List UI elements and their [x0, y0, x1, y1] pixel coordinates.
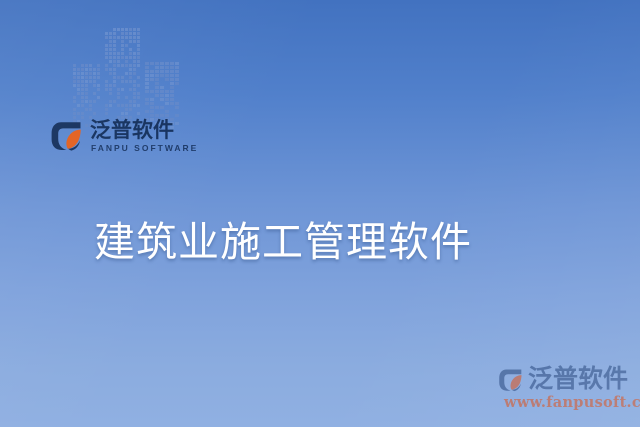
- skyline-window: [109, 52, 112, 55]
- skyline-window: [109, 88, 112, 91]
- skyline-window: [105, 68, 108, 71]
- skyline-window: [170, 90, 174, 93]
- skyline-window: [105, 80, 108, 83]
- skyline-window: [73, 96, 76, 99]
- skyline-window: [97, 108, 100, 111]
- skyline-window: [113, 104, 116, 107]
- skyline-window: [175, 82, 179, 85]
- brand-wordmark-en: FANPU SOFTWARE: [91, 143, 198, 153]
- skyline-window: [175, 90, 179, 93]
- skyline-window: [133, 36, 136, 39]
- skyline-window: [113, 92, 116, 95]
- skyline-window: [129, 40, 132, 43]
- skyline-window: [89, 92, 92, 95]
- skyline-window: [155, 94, 159, 97]
- skyline-window: [89, 68, 92, 71]
- skyline-window: [73, 76, 76, 79]
- skyline-window: [133, 40, 136, 43]
- skyline-window: [105, 56, 108, 59]
- skyline-window: [117, 72, 120, 75]
- skyline-window: [137, 108, 140, 111]
- skyline-window: [105, 72, 108, 75]
- skyline-window: [117, 60, 120, 63]
- dotted-building-skyline: [57, 26, 183, 120]
- skyline-window: [150, 106, 154, 109]
- skyline-window: [133, 28, 136, 31]
- skyline-window: [81, 72, 84, 75]
- skyline-window: [97, 80, 100, 83]
- skyline-window: [73, 72, 76, 75]
- skyline-window: [117, 56, 120, 59]
- skyline-window: [133, 96, 136, 99]
- skyline-window: [117, 36, 120, 39]
- skyline-window: [155, 74, 159, 77]
- skyline-window: [165, 102, 169, 105]
- skyline-window: [129, 56, 132, 59]
- skyline-window: [117, 40, 120, 43]
- skyline-window: [165, 66, 169, 69]
- skyline-window: [113, 88, 116, 91]
- skyline-window: [73, 84, 76, 87]
- skyline-window: [117, 32, 120, 35]
- skyline-window: [125, 84, 128, 87]
- skyline-window: [160, 82, 164, 85]
- skyline-window: [73, 64, 76, 67]
- skyline-window: [137, 96, 140, 99]
- skyline-window: [133, 68, 136, 71]
- skyline-window: [93, 84, 96, 87]
- skyline-window: [121, 112, 124, 115]
- skyline-window: [109, 112, 112, 115]
- skyline-window: [165, 98, 169, 101]
- skyline-window: [170, 102, 174, 105]
- skyline-window: [145, 78, 149, 81]
- skyline-window: [85, 92, 88, 95]
- skyline-window: [133, 104, 136, 107]
- skyline-window: [113, 28, 116, 31]
- skyline-window: [105, 96, 108, 99]
- skyline-window: [160, 102, 164, 105]
- skyline-window: [93, 64, 96, 67]
- skyline-window: [133, 84, 136, 87]
- skyline-window: [113, 72, 116, 75]
- skyline-window: [160, 70, 164, 73]
- skyline-window: [117, 112, 120, 115]
- skyline-window: [109, 28, 112, 31]
- skyline-window: [73, 100, 76, 103]
- skyline-window: [125, 88, 128, 91]
- skyline-window: [160, 110, 164, 113]
- skyline-window: [89, 80, 92, 83]
- skyline-window: [125, 56, 128, 59]
- skyline-window: [81, 100, 84, 103]
- skyline-window: [165, 70, 169, 73]
- skyline-right-building: [145, 62, 173, 120]
- skyline-window: [145, 82, 149, 85]
- skyline-window: [77, 100, 80, 103]
- skyline-window: [105, 100, 108, 103]
- skyline-window: [137, 100, 140, 103]
- skyline-window: [81, 88, 84, 91]
- skyline-window: [117, 108, 120, 111]
- skyline-window: [129, 36, 132, 39]
- skyline-window: [109, 104, 112, 107]
- skyline-window: [175, 110, 179, 113]
- skyline-window: [155, 82, 159, 85]
- skyline-window: [125, 36, 128, 39]
- skyline-window: [121, 64, 124, 67]
- skyline-window: [145, 94, 149, 97]
- skyline-window: [145, 86, 149, 89]
- skyline-window: [89, 76, 92, 79]
- skyline-window: [93, 112, 96, 115]
- skyline-window: [109, 32, 112, 35]
- skyline-window: [160, 94, 164, 97]
- skyline-window: [137, 92, 140, 95]
- skyline-window: [137, 60, 140, 63]
- skyline-window: [170, 74, 174, 77]
- skyline-window: [105, 88, 108, 91]
- skyline-window: [85, 96, 88, 99]
- skyline-window: [170, 94, 174, 97]
- skyline-window: [145, 62, 149, 65]
- watermark-wordmark-cn: 泛普软件: [528, 363, 628, 394]
- skyline-window: [77, 84, 80, 87]
- skyline-window: [117, 48, 120, 51]
- skyline-window: [133, 64, 136, 67]
- skyline-window: [85, 112, 88, 115]
- skyline-window: [93, 108, 96, 111]
- skyline-window: [109, 84, 112, 87]
- skyline-window: [125, 104, 128, 107]
- skyline-window: [85, 100, 88, 103]
- skyline-window: [105, 36, 108, 39]
- skyline-window: [117, 104, 120, 107]
- skyline-window: [85, 80, 88, 83]
- skyline-window: [160, 98, 164, 101]
- skyline-window: [150, 70, 154, 73]
- skyline-window: [81, 108, 84, 111]
- skyline-window: [137, 68, 140, 71]
- skyline-window: [125, 100, 128, 103]
- skyline-window: [117, 80, 120, 83]
- skyline-window: [85, 76, 88, 79]
- skyline-window: [109, 80, 112, 83]
- skyline-window: [97, 88, 100, 91]
- skyline-window: [81, 68, 84, 71]
- skyline-window: [125, 32, 128, 35]
- skyline-window: [105, 64, 108, 67]
- fanpu-watermark-mark-icon: [498, 367, 524, 393]
- skyline-window: [85, 84, 88, 87]
- skyline-window: [105, 108, 108, 111]
- skyline-window: [165, 86, 169, 89]
- skyline-window: [89, 108, 92, 111]
- skyline-window: [170, 70, 174, 73]
- skyline-window: [73, 108, 76, 111]
- skyline-window: [117, 64, 120, 67]
- skyline-window: [121, 48, 124, 51]
- skyline-window: [113, 48, 116, 51]
- skyline-window: [105, 40, 108, 43]
- skyline-window: [81, 80, 84, 83]
- skyline-window: [150, 110, 154, 113]
- skyline-window: [165, 74, 169, 77]
- skyline-window: [150, 94, 154, 97]
- skyline-window: [170, 62, 174, 65]
- skyline-window: [137, 64, 140, 67]
- skyline-window: [145, 98, 149, 101]
- skyline-window: [129, 104, 132, 107]
- skyline-window: [137, 48, 140, 51]
- skyline-window: [125, 96, 128, 99]
- watermark: 泛普软件 www.fanpusoft.com: [498, 363, 640, 413]
- skyline-window: [77, 64, 80, 67]
- skyline-window: [73, 88, 76, 91]
- skyline-window: [113, 32, 116, 35]
- skyline-window: [137, 76, 140, 79]
- skyline-window: [137, 28, 140, 31]
- skyline-window: [137, 32, 140, 35]
- skyline-window: [97, 84, 100, 87]
- skyline-window: [81, 84, 84, 87]
- skyline-window: [129, 76, 132, 79]
- skyline-window: [129, 80, 132, 83]
- skyline-window: [93, 76, 96, 79]
- skyline-window: [175, 86, 179, 89]
- skyline-window: [113, 68, 116, 71]
- skyline-window: [109, 92, 112, 95]
- skyline-window: [89, 104, 92, 107]
- skyline-window: [89, 84, 92, 87]
- skyline-window: [117, 100, 120, 103]
- skyline-window: [137, 40, 140, 43]
- skyline-window: [93, 100, 96, 103]
- skyline-window: [145, 110, 149, 113]
- skyline-window: [117, 68, 120, 71]
- skyline-window: [137, 56, 140, 59]
- skyline-window: [73, 112, 76, 115]
- skyline-window: [89, 64, 92, 67]
- skyline-window: [117, 84, 120, 87]
- skyline-window: [105, 104, 108, 107]
- skyline-window: [175, 62, 179, 65]
- skyline-window: [81, 112, 84, 115]
- skyline-window: [105, 84, 108, 87]
- skyline-window: [109, 68, 112, 71]
- skyline-window: [97, 72, 100, 75]
- skyline-window: [150, 82, 154, 85]
- skyline-window: [133, 44, 136, 47]
- skyline-window: [93, 80, 96, 83]
- skyline-window: [160, 86, 164, 89]
- skyline-window: [129, 72, 132, 75]
- skyline-window: [77, 96, 80, 99]
- skyline-window: [125, 76, 128, 79]
- skyline-window: [133, 88, 136, 91]
- skyline-window: [125, 92, 128, 95]
- skyline-window: [109, 72, 112, 75]
- skyline-window: [113, 112, 116, 115]
- skyline-window: [105, 92, 108, 95]
- skyline-window: [77, 76, 80, 79]
- skyline-window: [117, 52, 120, 55]
- skyline-window: [117, 96, 120, 99]
- skyline-window: [77, 68, 80, 71]
- skyline-window: [125, 80, 128, 83]
- skyline-window: [129, 108, 132, 111]
- skyline-window: [129, 52, 132, 55]
- skyline-window: [175, 114, 179, 117]
- skyline-window: [145, 74, 149, 77]
- skyline-window: [155, 102, 159, 105]
- skyline-window: [105, 76, 108, 79]
- skyline-window: [105, 44, 108, 47]
- skyline-window: [133, 60, 136, 63]
- skyline-window: [129, 28, 132, 31]
- skyline-window: [160, 62, 164, 65]
- skyline-window: [145, 70, 149, 73]
- skyline-window: [145, 66, 149, 69]
- skyline-window: [113, 60, 116, 63]
- skyline-window: [77, 92, 80, 95]
- skyline-window: [160, 106, 164, 109]
- skyline-window: [121, 56, 124, 59]
- skyline-window: [81, 76, 84, 79]
- brand-logo: 泛普软件 FANPU SOFTWARE: [50, 118, 182, 160]
- skyline-window: [93, 72, 96, 75]
- watermark-url: www.fanpusoft.com: [504, 394, 640, 411]
- skyline-window: [97, 64, 100, 67]
- skyline-window: [117, 76, 120, 79]
- skyline-window: [121, 104, 124, 107]
- skyline-window: [121, 68, 124, 71]
- skyline-window: [125, 28, 128, 31]
- skyline-window: [121, 80, 124, 83]
- skyline-window: [93, 96, 96, 99]
- skyline-window: [137, 72, 140, 75]
- skyline-window: [85, 72, 88, 75]
- skyline-window: [165, 106, 169, 109]
- skyline-window: [133, 56, 136, 59]
- skyline-window: [109, 96, 112, 99]
- skyline-window: [109, 56, 112, 59]
- skyline-window: [97, 92, 100, 95]
- skyline-window: [121, 28, 124, 31]
- skyline-window: [121, 44, 124, 47]
- skyline-window: [109, 60, 112, 63]
- skyline-window: [170, 82, 174, 85]
- skyline-window: [133, 48, 136, 51]
- skyline-window: [121, 108, 124, 111]
- skyline-window: [97, 112, 100, 115]
- skyline-window: [129, 44, 132, 47]
- skyline-window: [165, 78, 169, 81]
- skyline-window: [133, 72, 136, 75]
- skyline-window: [129, 100, 132, 103]
- skyline-window: [175, 106, 179, 109]
- skyline-left-building: [73, 64, 99, 120]
- skyline-window: [113, 44, 116, 47]
- page-title: 建筑业施工管理软件: [94, 208, 472, 268]
- skyline-window: [155, 110, 159, 113]
- skyline-window: [137, 88, 140, 91]
- skyline-window: [77, 112, 80, 115]
- skyline-window: [77, 80, 80, 83]
- skyline-window: [117, 44, 120, 47]
- skyline-window: [129, 64, 132, 67]
- skyline-window: [150, 62, 154, 65]
- skyline-window: [155, 86, 159, 89]
- skyline-window: [77, 108, 80, 111]
- skyline-window: [77, 72, 80, 75]
- skyline-window: [89, 112, 92, 115]
- skyline-window: [155, 78, 159, 81]
- skyline-window: [113, 108, 116, 111]
- skyline-window: [93, 68, 96, 71]
- skyline-window: [133, 76, 136, 79]
- skyline-window: [81, 92, 84, 95]
- skyline-window: [150, 90, 154, 93]
- skyline-window: [113, 76, 116, 79]
- skyline-window: [117, 28, 120, 31]
- skyline-window: [85, 108, 88, 111]
- skyline-window: [145, 102, 149, 105]
- skyline-window: [137, 84, 140, 87]
- skyline-window: [150, 78, 154, 81]
- skyline-window: [73, 80, 76, 83]
- skyline-window: [73, 92, 76, 95]
- skyline-window: [129, 84, 132, 87]
- skyline-window: [81, 96, 84, 99]
- skyline-window: [175, 102, 179, 105]
- skyline-window: [113, 40, 116, 43]
- skyline-window: [125, 52, 128, 55]
- skyline-window: [121, 60, 124, 63]
- skyline-window: [113, 100, 116, 103]
- skyline-window: [175, 70, 179, 73]
- skyline-center-building: [105, 28, 139, 120]
- fanpu-logo-mark-icon: [50, 119, 84, 153]
- skyline-window: [97, 68, 100, 71]
- skyline-window: [133, 100, 136, 103]
- skyline-window: [155, 62, 159, 65]
- skyline-window: [85, 88, 88, 91]
- skyline-window: [113, 52, 116, 55]
- skyline-window: [175, 78, 179, 81]
- skyline-window: [73, 68, 76, 71]
- skyline-window: [133, 112, 136, 115]
- skyline-window: [109, 36, 112, 39]
- skyline-window: [81, 104, 84, 107]
- skyline-window: [117, 92, 120, 95]
- skyline-window: [97, 100, 100, 103]
- skyline-window: [133, 108, 136, 111]
- skyline-window: [121, 88, 124, 91]
- skyline-window: [129, 112, 132, 115]
- skyline-window: [113, 64, 116, 67]
- skyline-window: [150, 102, 154, 105]
- skyline-window: [175, 66, 179, 69]
- skyline-window: [129, 96, 132, 99]
- skyline-window: [121, 32, 124, 35]
- skyline-window: [109, 76, 112, 79]
- skyline-window: [165, 62, 169, 65]
- skyline-window: [105, 32, 108, 35]
- skyline-window: [137, 80, 140, 83]
- skyline-window: [121, 52, 124, 55]
- skyline-window: [129, 32, 132, 35]
